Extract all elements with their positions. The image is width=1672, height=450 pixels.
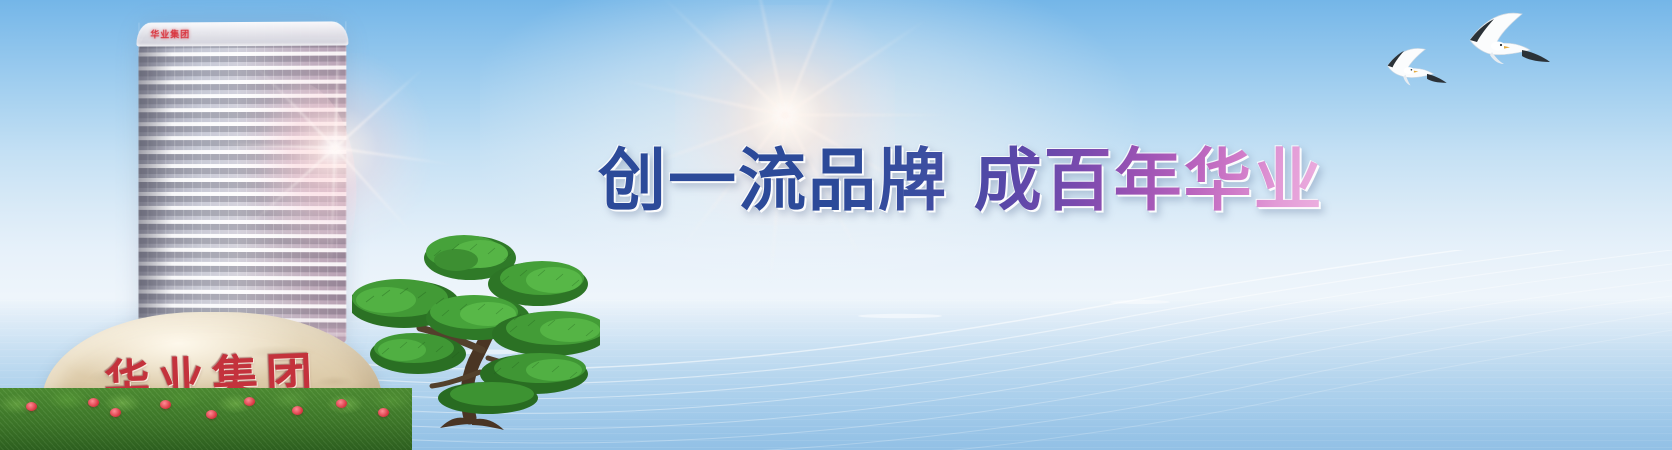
- hedge-flower: [244, 397, 255, 406]
- hedge-flower: [378, 408, 389, 417]
- sun-ray: [785, 114, 955, 116]
- hedge-flower: [26, 402, 37, 411]
- seagull-icon: [1470, 13, 1550, 64]
- hedge-flower: [292, 406, 303, 415]
- hedge-flower: [336, 399, 347, 408]
- company-hero-banner: 华业集团: [0, 0, 1672, 450]
- hedge-flower: [206, 410, 217, 419]
- shrub-hedge: [0, 388, 412, 450]
- seagull-icon: [1388, 48, 1447, 85]
- page-title: 创一流品牌 成百年华业: [598, 132, 1324, 216]
- hedge-flower: [88, 398, 99, 407]
- hedge-flower: [160, 400, 171, 409]
- hedge-flower: [110, 408, 121, 417]
- hedge-leaf-texture: [0, 388, 412, 450]
- headline-text: 创一流品牌 成百年华业: [598, 125, 1324, 224]
- seagulls: [1372, 8, 1572, 118]
- tower-left-facade: [138, 30, 172, 341]
- tower-roof-sign: 华业集团: [150, 27, 190, 40]
